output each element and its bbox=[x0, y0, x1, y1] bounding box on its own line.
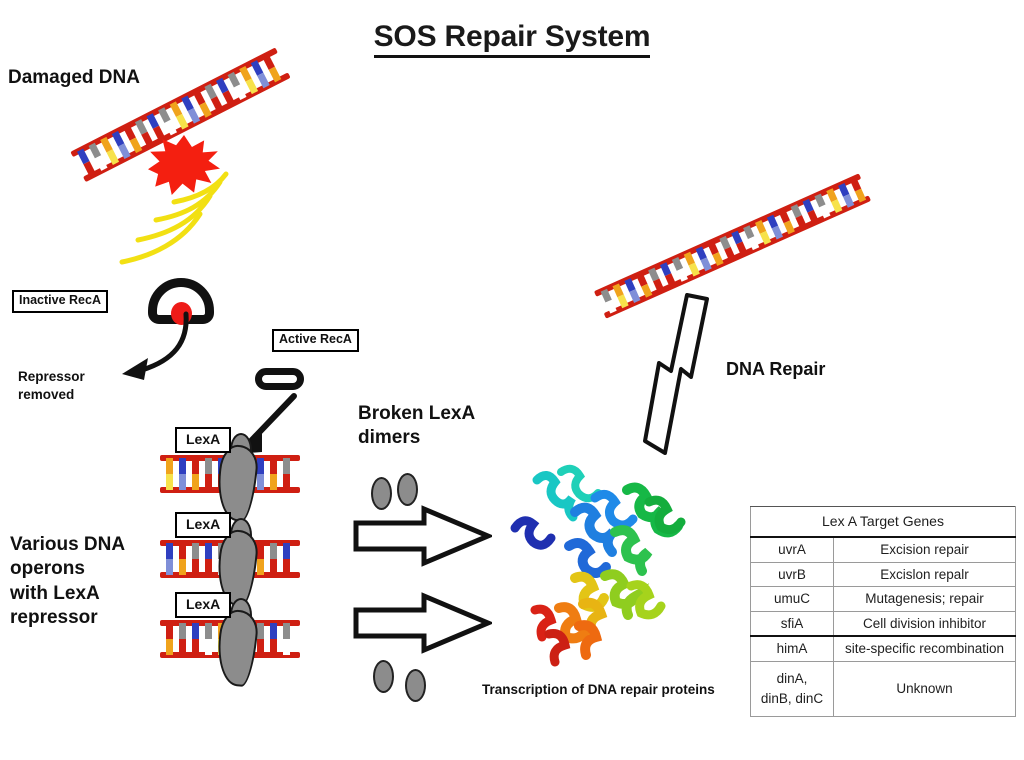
dna-base-pair bbox=[270, 623, 277, 655]
dna-base-pair bbox=[283, 458, 290, 490]
dna-base-pair bbox=[179, 458, 186, 490]
various-operons-label: Various DNA operons with LexA repressor bbox=[10, 533, 125, 630]
gene-name: umuC bbox=[751, 587, 834, 612]
gene-function: site-specific recombination bbox=[834, 636, 1016, 661]
gene-function: Unknown bbox=[834, 661, 1016, 717]
transcription-arrow-lower-icon bbox=[352, 592, 492, 654]
broken-lexa-dimers-label: Broken LexA dimers bbox=[358, 402, 475, 451]
dna-base-pair bbox=[166, 458, 173, 490]
dna-base-pair bbox=[166, 623, 173, 655]
table-row: himA site-specific recombination bbox=[751, 636, 1016, 661]
reca-active-capsule-icon bbox=[255, 368, 304, 390]
radiation-arcs-icon bbox=[90, 170, 310, 290]
repressor-removed-label: Repressor removed bbox=[18, 368, 85, 403]
gene-name: himA bbox=[751, 636, 834, 661]
dna-repair-label: DNA Repair bbox=[726, 358, 825, 381]
lexa-box-label: LexA bbox=[175, 592, 231, 618]
table-row: uvrA Excision repair bbox=[751, 537, 1016, 562]
dna-base-pair bbox=[166, 543, 173, 575]
dna-base-pair bbox=[179, 543, 186, 575]
lexa-monomer bbox=[405, 669, 426, 702]
genes-table-header: Lex A Target Genes bbox=[751, 507, 1016, 538]
dna-base-pair bbox=[192, 458, 199, 490]
table-row: sfiA Cell division inhibitor bbox=[751, 611, 1016, 636]
dna-base-pair bbox=[270, 543, 277, 575]
gene-function: Excislon repalr bbox=[834, 562, 1016, 587]
dna-base-pair bbox=[270, 458, 277, 490]
active-reca-label: Active RecA bbox=[272, 329, 359, 352]
dna-base-pair bbox=[283, 543, 290, 575]
dna-repair-arrow-icon bbox=[625, 293, 735, 468]
gene-name: uvrB bbox=[751, 562, 834, 587]
dna-base-pair bbox=[257, 543, 264, 575]
protein-ribbon-icon bbox=[497, 450, 717, 670]
gene-function: Mutagenesis; repair bbox=[834, 587, 1016, 612]
gene-name: sfiA bbox=[751, 611, 834, 636]
damaged-dna-label: Damaged DNA bbox=[8, 66, 140, 90]
table-row: umuC Mutagenesis; repair bbox=[751, 587, 1016, 612]
dna-base-pair bbox=[257, 458, 264, 490]
lexa-box-label: LexA bbox=[175, 427, 231, 453]
table-row: dinA, dinB, dinC Unknown bbox=[751, 661, 1016, 717]
dna-base-pair bbox=[179, 623, 186, 655]
gene-function: Excision repair bbox=[834, 537, 1016, 562]
lexa-monomer bbox=[373, 660, 394, 693]
page-title: SOS Repair System bbox=[0, 20, 1024, 54]
dna-base-pair bbox=[192, 543, 199, 575]
lexa-box-label: LexA bbox=[175, 512, 231, 538]
dna-rail-top bbox=[594, 173, 861, 296]
dna-base-pair bbox=[283, 623, 290, 655]
inactive-reca-label: Inactive RecA bbox=[12, 290, 108, 313]
gene-function: Cell division inhibitor bbox=[834, 611, 1016, 636]
dna-base-pair bbox=[205, 543, 212, 575]
genes-table-body: Lex A Target Genes uvrA Excision repair … bbox=[751, 507, 1016, 717]
page-title-text: SOS Repair System bbox=[374, 20, 651, 58]
gene-name: uvrA bbox=[751, 537, 834, 562]
lexa-monomer bbox=[397, 473, 418, 506]
dna-base-pair bbox=[257, 623, 264, 655]
table-row: uvrB Excislon repalr bbox=[751, 562, 1016, 587]
dna-base-pair bbox=[192, 623, 199, 655]
transcription-caption: Transcription of DNA repair proteins bbox=[482, 682, 715, 697]
repressor-removed-arrow-icon bbox=[108, 308, 198, 398]
dna-base-pair bbox=[850, 178, 866, 203]
dna-base-pair bbox=[205, 623, 212, 655]
genes-table-header-row: Lex A Target Genes bbox=[751, 507, 1016, 538]
lexa-target-genes-table: Lex A Target Genes uvrA Excision repair … bbox=[750, 506, 1016, 717]
gene-name: dinA, dinB, dinC bbox=[751, 661, 834, 717]
dna-base-pair bbox=[205, 458, 212, 490]
transcription-arrow-upper-icon bbox=[352, 505, 492, 567]
